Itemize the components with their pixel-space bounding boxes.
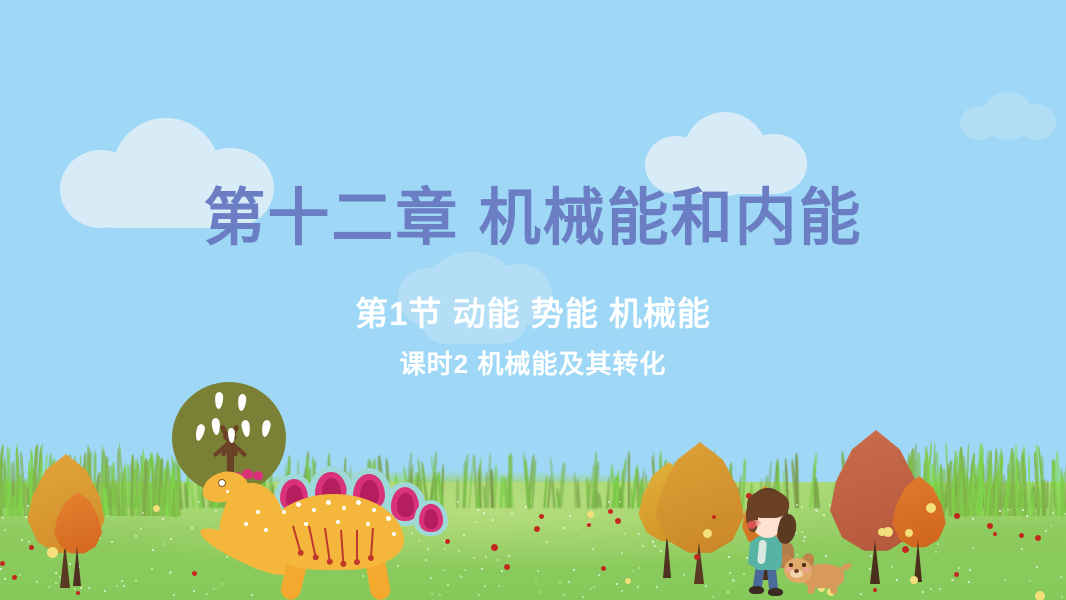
lesson-subtitle: 课时2 机械能及其转化	[0, 350, 1066, 379]
dino-eye	[218, 479, 226, 487]
dog-cheek	[803, 567, 810, 572]
page-title: 第十二章 机械能和内能	[0, 186, 1066, 253]
dinosaur	[196, 466, 446, 598]
girl-shoe	[768, 588, 783, 596]
section-subtitle: 第1节 动能 势能 机械能	[0, 296, 1066, 332]
girl-mouth	[747, 521, 756, 529]
dino-crest	[253, 471, 263, 480]
cloud-far-right	[960, 92, 1056, 140]
dog-nose	[794, 569, 799, 573]
dog-eye	[789, 563, 793, 567]
gold-tree-right	[652, 442, 748, 582]
cloud-top-right	[645, 112, 815, 192]
girl-shoe	[749, 586, 764, 594]
dog-eye	[802, 563, 806, 567]
orange-tree-right-small	[890, 476, 948, 582]
dog	[782, 552, 848, 594]
dino-plate	[414, 500, 448, 536]
presentation-slide: 第十二章 机械能和内能 第1节 动能 势能 机械能 课时2 机械能及其转化	[0, 0, 1066, 600]
orange-tree-left-small	[52, 492, 104, 584]
